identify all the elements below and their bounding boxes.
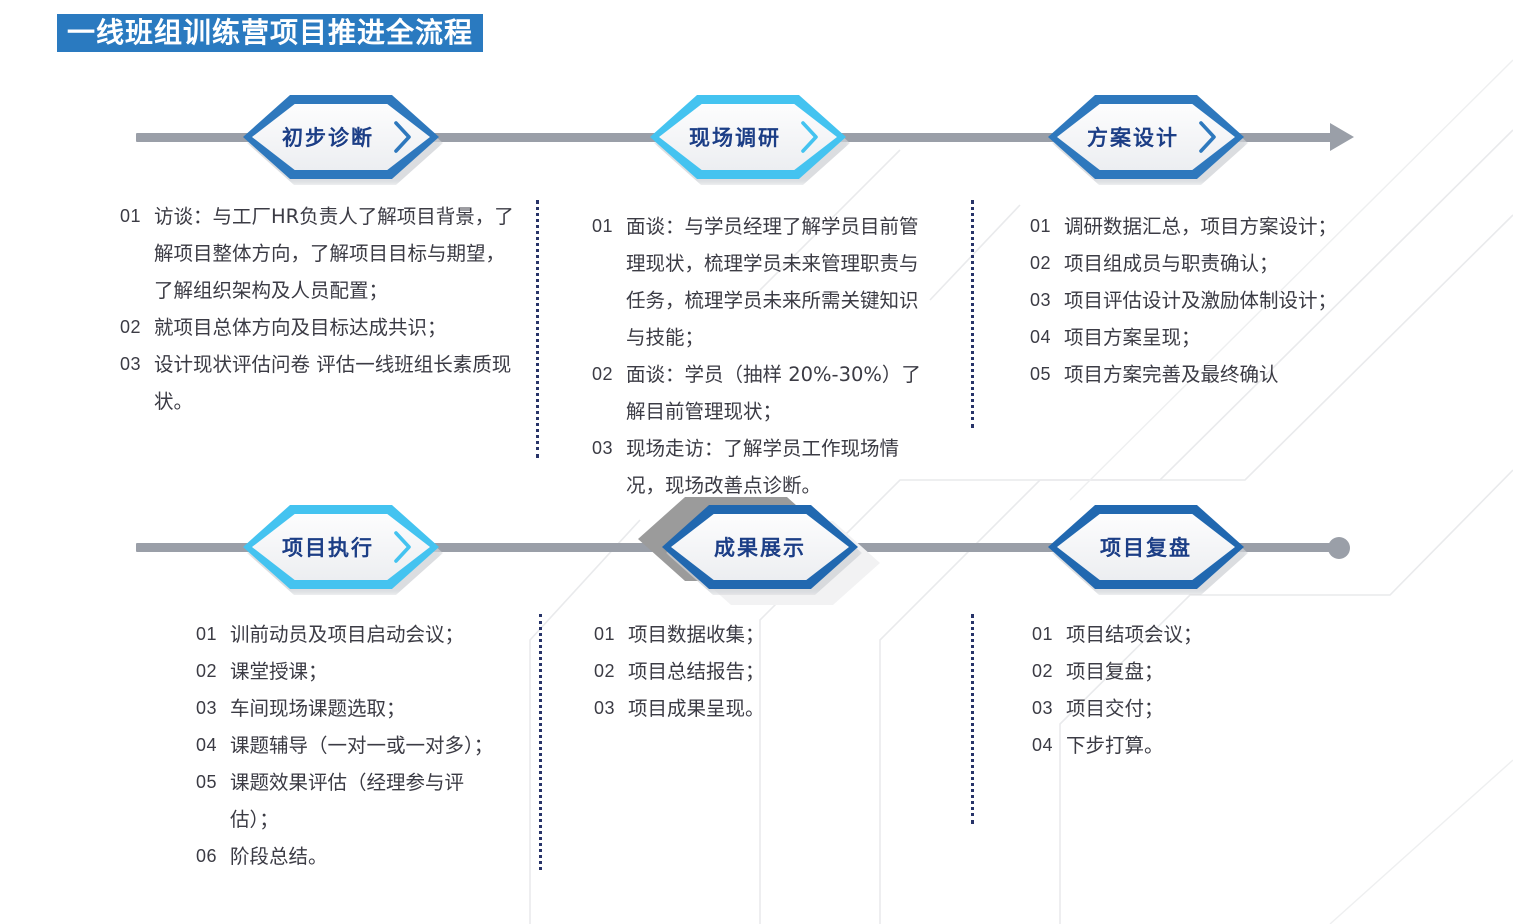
list-item-number: 02 (120, 309, 154, 346)
list-item-text: 项目交付； (1066, 690, 1362, 727)
list-item: 02 就项目总体方向及目标达成共识； (120, 309, 518, 346)
chevron-right-icon (393, 120, 413, 154)
stage-content-project-review: 01 项目结项会议； 02 项目复盘； 03 项目交付； 04 下步打算。 (1032, 616, 1362, 764)
stage-badge-project-review[interactable]: 项目复盘 (1048, 505, 1244, 589)
list-item-text: 调研数据汇总，项目方案设计； (1064, 208, 1460, 245)
stage-badge-results-presentation[interactable]: 成果展示 (662, 505, 858, 589)
list-item: 03 现场走访：了解学员工作现场情况，现场改善点诊断。 (592, 430, 932, 504)
list-item-number: 01 (592, 208, 626, 356)
chevron-right-icon (1198, 120, 1218, 154)
list-item: 02 项目总结报告； (594, 653, 924, 690)
stage-badge-solution-design[interactable]: 方案设计 (1048, 95, 1244, 179)
list-item-number: 01 (196, 616, 230, 653)
list-item-number: 02 (196, 653, 230, 690)
stage-badge-project-execution[interactable]: 项目执行 (243, 505, 439, 589)
page-title-banner: 一线班组训练营项目推进全流程 (57, 14, 483, 52)
list-item-number: 05 (1030, 356, 1064, 393)
list-item-number: 05 (196, 764, 230, 838)
list-item-number: 02 (1030, 245, 1064, 282)
list-item: 06 阶段总结。 (196, 838, 496, 875)
list-item-text: 面谈：学员（抽样 20%-30%）了解目前管理现状； (626, 356, 932, 430)
flowchart-canvas: 一线班组训练营项目推进全流程 初步诊断 现场调研 方案设计 (0, 0, 1513, 924)
list-item-number: 01 (1030, 208, 1064, 245)
column-divider-row2-left (539, 614, 542, 870)
list-item-text: 面谈：与学员经理了解学员目前管理现状，梳理学员未来管理职责与任务，梳理学员未来所… (626, 208, 932, 356)
stage-badge-label: 成果展示 (662, 505, 858, 589)
list-item-number: 03 (196, 690, 230, 727)
list-item-number: 02 (592, 356, 626, 430)
list-item-text: 项目评估设计及激励体制设计； (1064, 282, 1460, 319)
list-item-text: 项目结项会议； (1066, 616, 1362, 653)
list-item-number: 06 (196, 838, 230, 875)
list-item-text: 访谈：与工厂HR负责人了解项目背景，了解项目整体方向，了解项目目标与期望，了解组… (154, 198, 518, 309)
list-item: 02 面谈：学员（抽样 20%-30%）了解目前管理现状； (592, 356, 932, 430)
stage-badge-preliminary-diagnosis[interactable]: 初步诊断 (243, 95, 439, 179)
list-item-text: 课题辅导（一对一或一对多）； (230, 727, 496, 764)
list-item-number: 04 (1030, 319, 1064, 356)
list-item: 01 训前动员及项目启动会议； (196, 616, 496, 653)
list-item: 01 调研数据汇总，项目方案设计； (1030, 208, 1460, 245)
stage-content-project-execution: 01 训前动员及项目启动会议； 02 课堂授课； 03 车间现场课题选取； 04… (196, 616, 496, 875)
list-item-text: 阶段总结。 (230, 838, 496, 875)
stage-content-site-research: 01 面谈：与学员经理了解学员目前管理现状，梳理学员未来管理职责与任务，梳理学员… (592, 208, 932, 504)
list-item: 01 项目结项会议； (1032, 616, 1362, 653)
chevron-right-icon (393, 530, 413, 564)
list-item-text: 项目数据收集； (628, 616, 924, 653)
list-item-text: 课堂授课； (230, 653, 496, 690)
list-item-number: 02 (1032, 653, 1066, 690)
list-item: 05 课题效果评估（经理参与评估）； (196, 764, 496, 838)
stage-badge-site-research[interactable]: 现场调研 (650, 95, 846, 179)
column-divider-row2-right (971, 614, 974, 824)
list-item-text: 下步打算。 (1066, 727, 1362, 764)
timeline-rail-row2-seg2 (420, 543, 674, 552)
list-item: 02 项目组成员与职责确认； (1030, 245, 1460, 282)
column-divider-row1-left (536, 200, 539, 458)
list-item-number: 04 (1032, 727, 1066, 764)
list-item-text: 训前动员及项目启动会议； (230, 616, 496, 653)
timeline-rail-row1-seg2 (420, 133, 678, 142)
list-item-text: 项目成果呈现。 (628, 690, 924, 727)
list-item: 01 面谈：与学员经理了解学员目前管理现状，梳理学员未来管理职责与任务，梳理学员… (592, 208, 932, 356)
column-divider-row1-right (971, 200, 974, 428)
list-item-number: 03 (1030, 282, 1064, 319)
list-item: 02 项目复盘； (1032, 653, 1362, 690)
stage-badge-label: 项目复盘 (1048, 505, 1244, 589)
list-item-number: 03 (594, 690, 628, 727)
list-item-text: 就项目总体方向及目标达成共识； (154, 309, 518, 346)
list-item: 03 设计现状评估问卷 评估一线班组长素质现状。 (120, 346, 518, 420)
list-item: 03 车间现场课题选取； (196, 690, 496, 727)
list-item: 04 下步打算。 (1032, 727, 1362, 764)
list-item-text: 项目方案完善及最终确认 (1064, 356, 1460, 393)
list-item: 04 项目方案呈现； (1030, 319, 1460, 356)
list-item-text: 项目复盘； (1066, 653, 1362, 690)
list-item: 03 项目交付； (1032, 690, 1362, 727)
list-item-text: 项目总结报告； (628, 653, 924, 690)
list-item-number: 02 (594, 653, 628, 690)
list-item-number: 01 (594, 616, 628, 653)
list-item-number: 01 (1032, 616, 1066, 653)
list-item-text: 项目组成员与职责确认； (1064, 245, 1460, 282)
list-item: 02 课堂授课； (196, 653, 496, 690)
chevron-right-icon (800, 120, 820, 154)
list-item-number: 03 (120, 346, 154, 420)
list-item-number: 01 (120, 198, 154, 309)
list-item: 05 项目方案完善及最终确认 (1030, 356, 1460, 393)
list-item-number: 03 (1032, 690, 1066, 727)
stage-content-preliminary-diagnosis: 01 访谈：与工厂HR负责人了解项目背景，了解项目整体方向，了解项目目标与期望，… (120, 198, 518, 420)
list-item: 01 访谈：与工厂HR负责人了解项目背景，了解项目整体方向，了解项目目标与期望，… (120, 198, 518, 309)
page-title: 一线班组训练营项目推进全流程 (67, 14, 473, 52)
timeline-endpoint-dot (1328, 537, 1350, 559)
list-item-text: 设计现状评估问卷 评估一线班组长素质现状。 (154, 346, 518, 420)
list-item-text: 车间现场课题选取； (230, 690, 496, 727)
list-item-text: 课题效果评估（经理参与评估）； (230, 764, 496, 838)
list-item-number: 04 (196, 727, 230, 764)
timeline-rail-row1-seg3 (824, 133, 1066, 142)
list-item: 03 项目成果呈现。 (594, 690, 924, 727)
list-item: 03 项目评估设计及激励体制设计； (1030, 282, 1460, 319)
list-item: 04 课题辅导（一对一或一对多）； (196, 727, 496, 764)
stage-content-solution-design: 01 调研数据汇总，项目方案设计； 02 项目组成员与职责确认； 03 项目评估… (1030, 208, 1460, 393)
list-item-text: 现场走访：了解学员工作现场情况，现场改善点诊断。 (626, 430, 932, 504)
list-item-number: 03 (592, 430, 626, 504)
list-item-text: 项目方案呈现； (1064, 319, 1460, 356)
timeline-arrowhead-row1 (1330, 123, 1354, 151)
stage-content-results-presentation: 01 项目数据收集； 02 项目总结报告； 03 项目成果呈现。 (594, 616, 924, 727)
list-item: 01 项目数据收集； (594, 616, 924, 653)
